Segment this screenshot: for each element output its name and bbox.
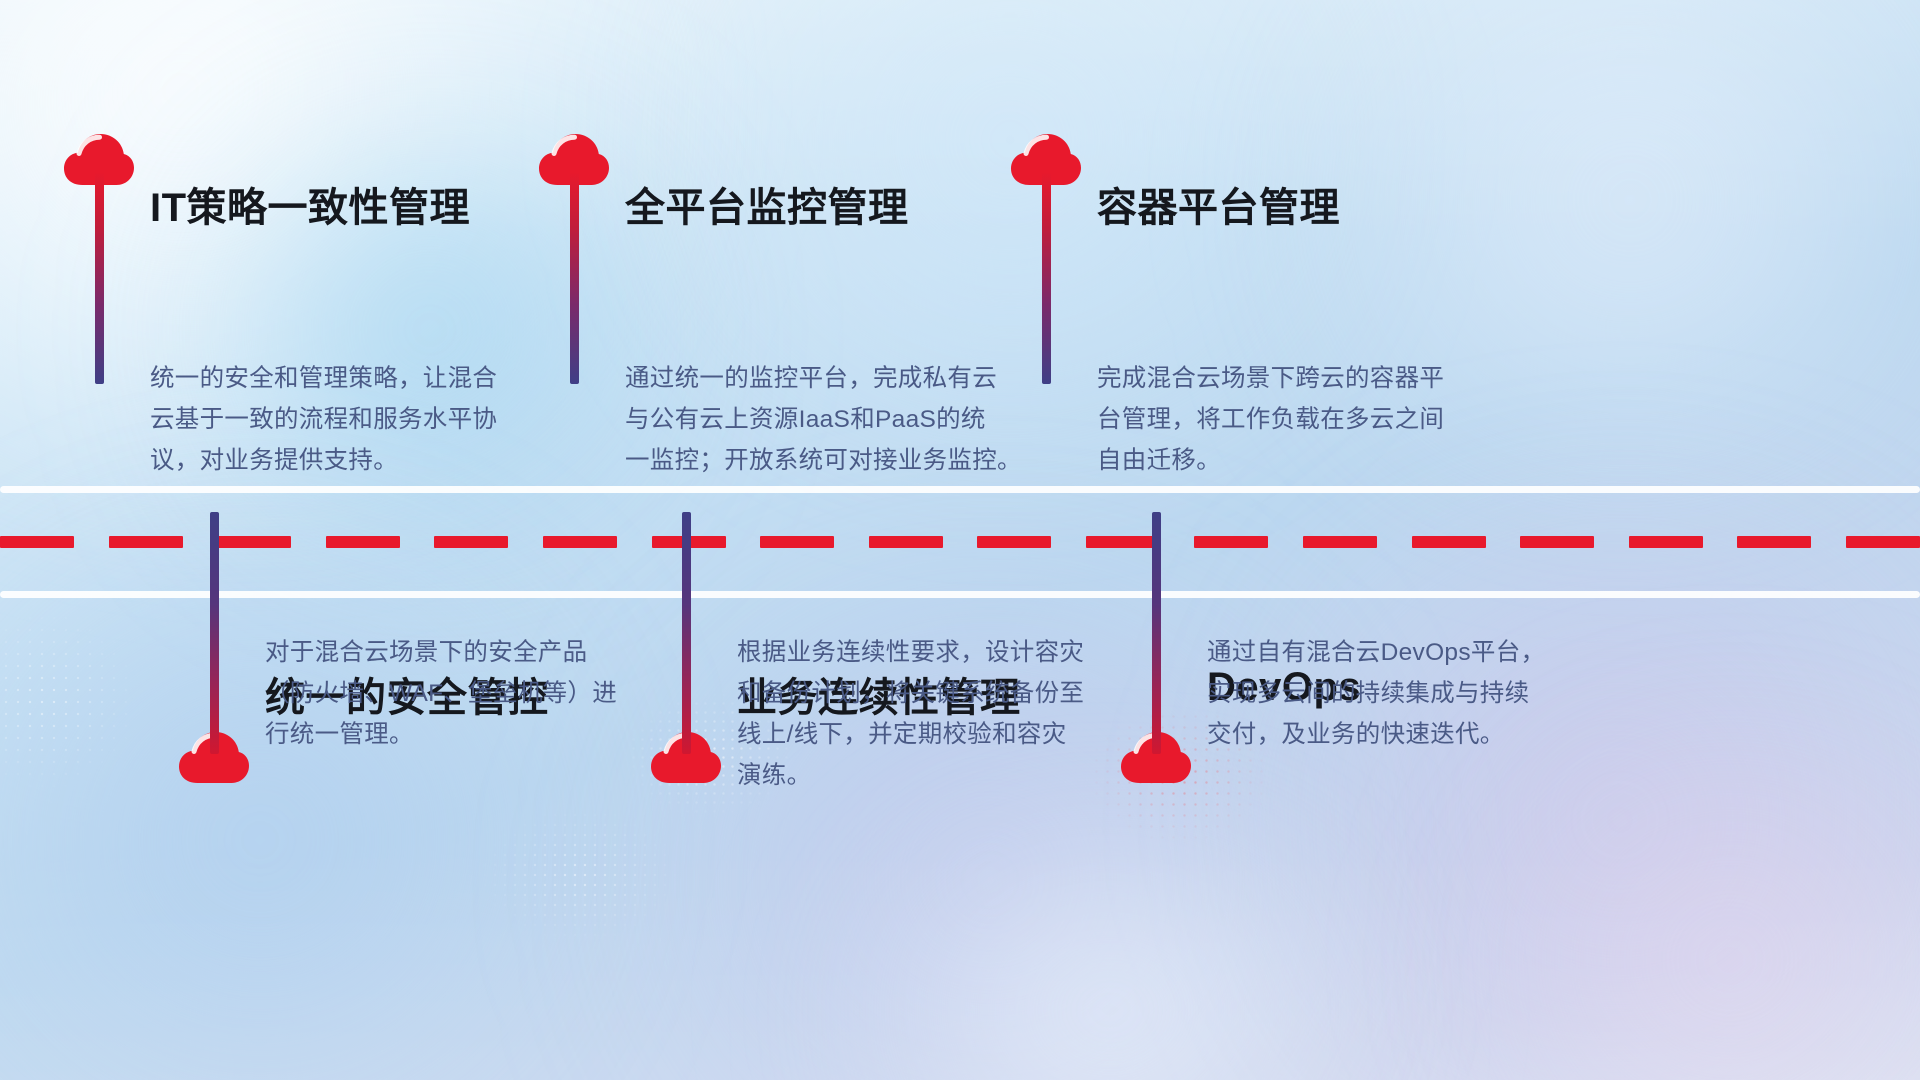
feature-description-line: 一监控；开放系统可对接业务监控。 — [625, 440, 1022, 481]
feature-description-line: 演练。 — [737, 755, 1084, 796]
feature-description-line: 台管理，将工作负载在多云之间 — [1097, 399, 1444, 440]
feature-description: 对于混合云场景下的安全产品（防火墙、WAF、堡垒机等）进行统一管理。 — [265, 632, 617, 755]
feature-stem — [1042, 172, 1051, 384]
feature-description: 完成混合云场景下跨云的容器平台管理，将工作负载在多云之间自由迁移。 — [1097, 358, 1444, 481]
feature-description-line: （防火墙、WAF、堡垒机等）进 — [265, 673, 617, 714]
feature-description-line: 通过统一的监控平台，完成私有云 — [625, 358, 1022, 399]
feature-description-line: 议，对业务提供支持。 — [150, 440, 497, 481]
feature-description-line: 实现多云间的持续集成与持续 — [1207, 673, 1545, 714]
feature-stem — [570, 172, 579, 384]
feature-title: 全平台监控管理 — [625, 175, 909, 233]
feature-stem — [682, 512, 691, 754]
feature-description-line: 交付，及业务的快速迭代。 — [1207, 714, 1545, 755]
feature-description: 通过自有混合云DevOps平台，实现多云间的持续集成与持续交付，及业务的快速迭代… — [1207, 632, 1545, 755]
feature-description-line: 和备份计划，将关键系统备份至 — [737, 673, 1084, 714]
feature-description-line: 对于混合云场景下的安全产品 — [265, 632, 617, 673]
feature-stem — [210, 512, 219, 754]
feature-description-line: 云基于一致的流程和服务水平协 — [150, 399, 497, 440]
feature-title: IT策略一致性管理 — [150, 175, 470, 233]
feature-stem — [1152, 512, 1161, 754]
feature-description-line: 根据业务连续性要求，设计容灾 — [737, 632, 1084, 673]
feature-description-line: 与公有云上资源IaaS和PaaS的统 — [625, 399, 1022, 440]
feature-stem — [95, 172, 104, 384]
feature-description-line: 统一的安全和管理策略，让混合 — [150, 358, 497, 399]
infographic-content: IT策略一致性管理统一的安全和管理策略，让混合云基于一致的流程和服务水平协议，对… — [0, 0, 1920, 1080]
feature-description: 根据业务连续性要求，设计容灾和备份计划，将关键系统备份至线上/线下，并定期校验和… — [737, 632, 1084, 796]
feature-title: 容器平台管理 — [1097, 175, 1340, 233]
feature-description: 通过统一的监控平台，完成私有云与公有云上资源IaaS和PaaS的统一监控；开放系… — [625, 358, 1022, 481]
feature-description-line: 行统一管理。 — [265, 714, 617, 755]
feature-description-line: 自由迁移。 — [1097, 440, 1444, 481]
feature-description-line: 通过自有混合云DevOps平台， — [1207, 632, 1545, 673]
feature-description-line: 线上/线下，并定期校验和容灾 — [737, 714, 1084, 755]
feature-description-line: 完成混合云场景下跨云的容器平 — [1097, 358, 1444, 399]
feature-description: 统一的安全和管理策略，让混合云基于一致的流程和服务水平协议，对业务提供支持。 — [150, 358, 497, 481]
